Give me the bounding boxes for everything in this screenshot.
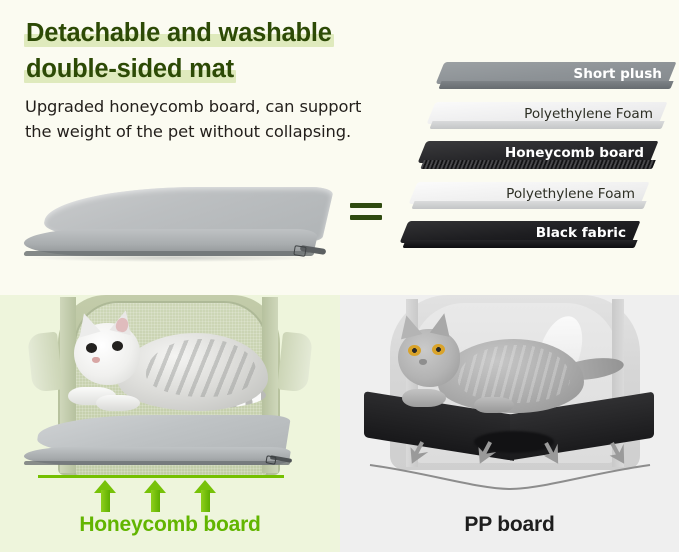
headline-line-2-row: double-sided mat xyxy=(26,52,398,88)
subtitle-text: Upgraded honeycomb board, can support th… xyxy=(25,94,385,144)
honeycomb-board-label: Honeycomb board xyxy=(0,513,340,537)
cat-fur-texture xyxy=(458,345,570,403)
layer-polyethylene-foam-bottom: Polyethylene Foam xyxy=(413,182,645,216)
cat-nose xyxy=(92,357,100,363)
layer-polyethylene-foam-top: Polyethylene Foam xyxy=(431,102,663,136)
layer-label: Polyethylene Foam xyxy=(506,183,635,205)
mat-bottom-trim xyxy=(24,461,291,465)
layer-label: Short plush xyxy=(573,63,662,85)
product-mat-image xyxy=(16,183,346,275)
arrow-shaft xyxy=(101,490,110,512)
layer-label: Black fabric xyxy=(536,222,626,244)
comparison-panel-pp-board: PP board xyxy=(340,295,679,552)
carrier-right-handle xyxy=(277,332,313,393)
headline-line-1-row: Detachable and washable xyxy=(26,16,398,52)
arrow-up-icon xyxy=(194,480,216,512)
cat-right-ear xyxy=(430,311,454,337)
cat-fur-stripes xyxy=(146,339,256,397)
mat-shadow xyxy=(29,255,319,262)
zipper-slider xyxy=(265,455,276,465)
equals-bar-top xyxy=(350,203,382,208)
headline: Detachable and washable double-sided mat xyxy=(26,16,398,88)
layer-honeycomb-board: Honeycomb board xyxy=(422,141,654,175)
pp-board-label: PP board xyxy=(340,513,679,537)
layer-label: Honeycomb board xyxy=(505,142,644,164)
comparison-section: Honeycomb board xyxy=(0,295,679,552)
headline-line-1: Detachable and washable xyxy=(26,16,332,50)
flat-support-line xyxy=(38,475,284,478)
equals-bar-bottom xyxy=(350,215,382,220)
white-tabby-cat xyxy=(60,305,280,425)
upward-force-arrows xyxy=(38,480,284,512)
arrow-up-icon xyxy=(144,480,166,512)
top-section: Detachable and washable double-sided mat… xyxy=(0,0,679,295)
product-infographic: Detachable and washable double-sided mat… xyxy=(0,0,679,552)
equals-sign-icon xyxy=(350,203,382,223)
cat-front-paw-left xyxy=(402,389,446,407)
zipper-slider xyxy=(293,245,306,257)
cat-left-eye xyxy=(86,343,97,353)
carrier-left-handle xyxy=(27,332,63,393)
cat-left-eye xyxy=(408,345,421,356)
cat-right-eye xyxy=(432,344,445,355)
gray-plush-mat xyxy=(18,415,308,475)
zipper-icon xyxy=(294,245,328,257)
layer-stack-diagram: Short plush Polyethylene Foam Honeycomb … xyxy=(404,62,672,272)
layer-black-fabric: Black fabric xyxy=(404,221,636,255)
arrow-shaft xyxy=(151,490,160,512)
headline-line-2: double-sided mat xyxy=(26,52,234,86)
layer-label: Polyethylene Foam xyxy=(524,103,653,125)
cat-front-paw-right xyxy=(96,395,140,411)
cat-right-ear xyxy=(110,308,137,336)
sagging-support-curve xyxy=(368,463,652,493)
comparison-panel-honeycomb: Honeycomb board xyxy=(0,295,340,552)
cat-front-paw-right xyxy=(474,397,514,413)
arrow-up-icon xyxy=(94,480,116,512)
cat-inner-ear xyxy=(115,317,130,333)
cat-right-eye xyxy=(112,341,123,351)
arrow-shaft xyxy=(201,490,210,512)
gray-british-shorthair-cat xyxy=(382,313,612,433)
zipper-icon xyxy=(266,455,294,464)
cat-nose xyxy=(419,359,427,365)
layer-short-plush: Short plush xyxy=(440,62,672,96)
